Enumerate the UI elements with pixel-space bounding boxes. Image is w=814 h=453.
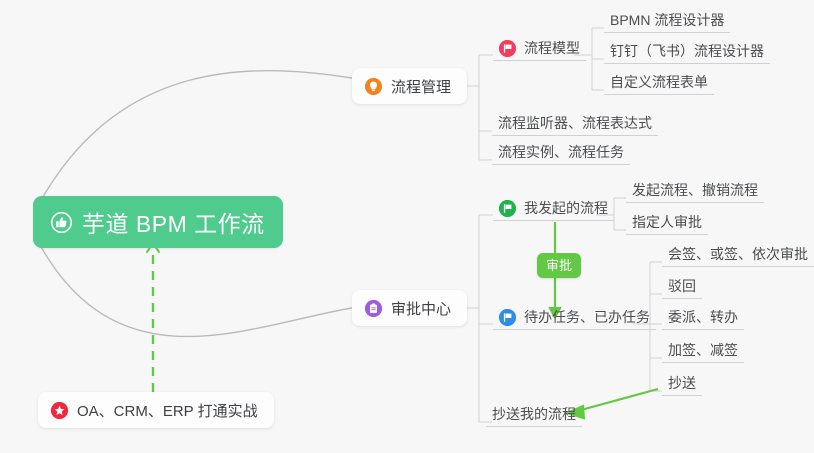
leaf-countersign-modes-label: 会签、或签、依次审批 (668, 246, 808, 263)
leaf-carbon-copy[interactable]: 抄送 (662, 375, 702, 396)
link-callout-to-root (147, 243, 159, 392)
leaf-designated-approver[interactable]: 指定人审批 (626, 214, 708, 235)
root-node[interactable]: 芋道 BPM 工作流 (33, 196, 283, 248)
leaf-cc-my-process[interactable]: 抄送我的流程 (486, 406, 582, 427)
leaf-process-instance-task-label: 流程实例、流程任务 (498, 144, 624, 161)
node-my-initiated-process[interactable]: 我发起的流程 (493, 200, 614, 221)
node-process-model[interactable]: 流程模型 (493, 40, 586, 61)
leaf-delegate-transfer[interactable]: 委派、转办 (662, 309, 744, 330)
leaf-dingtalk-feishu-designer[interactable]: 钉钉（飞书）流程设计器 (604, 43, 770, 64)
leaf-carbon-copy-label: 抄送 (668, 375, 696, 392)
thumbs-up-icon (51, 212, 72, 233)
leaf-custom-process-form-label: 自定义流程表单 (610, 74, 708, 91)
leaf-bpmn-designer-label: BPMN 流程设计器 (610, 12, 724, 29)
node-oa-crm-erp-integration[interactable]: OA、CRM、ERP 打通实战 (38, 392, 274, 428)
mindmap-canvas: 芋道 BPM 工作流 流程管理 流程模型 BPMN 流程设计器 钉钉（飞书）流程… (0, 0, 814, 453)
leaf-process-listener-expression-label: 流程监听器、流程表达式 (498, 115, 652, 132)
node-approval-center-label: 审批中心 (391, 298, 451, 319)
clipboard-icon (365, 300, 382, 317)
leaf-dingtalk-feishu-designer-label: 钉钉（飞书）流程设计器 (610, 43, 764, 60)
annotation-approval-label: 审批 (546, 258, 572, 273)
annotation-approval: 审批 (537, 253, 581, 278)
link-group-process-management (463, 55, 493, 160)
flag-icon (499, 40, 516, 57)
node-process-model-label: 流程模型 (524, 40, 580, 57)
flag-icon (499, 309, 516, 326)
leaf-add-remove-sign[interactable]: 加签、减签 (662, 342, 744, 363)
leaf-designated-approver-label: 指定人审批 (632, 214, 702, 231)
lightbulb-icon (365, 78, 382, 95)
leaf-reject-label: 驳回 (668, 278, 696, 295)
node-todo-done-tasks[interactable]: 待办任务、已办任务 (493, 309, 656, 330)
leaf-countersign-modes[interactable]: 会签、或签、依次审批 (662, 246, 814, 267)
leaf-reject[interactable]: 驳回 (662, 278, 702, 299)
node-my-initiated-process-label: 我发起的流程 (524, 200, 608, 217)
node-approval-center[interactable]: 审批中心 (352, 290, 467, 326)
leaf-delegate-transfer-label: 委派、转办 (668, 309, 738, 326)
leaf-process-listener-expression[interactable]: 流程监听器、流程表达式 (492, 115, 658, 136)
node-process-management-label: 流程管理 (391, 76, 451, 97)
leaf-custom-process-form[interactable]: 自定义流程表单 (604, 74, 714, 95)
link-root-to-approval-center (40, 245, 352, 337)
star-icon (51, 402, 68, 419)
leaf-process-instance-task[interactable]: 流程实例、流程任务 (492, 144, 630, 165)
flag-icon (499, 200, 516, 217)
leaf-add-remove-sign-label: 加签、减签 (668, 342, 738, 359)
link-root-to-process-management (40, 71, 352, 202)
node-process-management[interactable]: 流程管理 (352, 68, 467, 104)
node-oa-crm-erp-integration-label: OA、CRM、ERP 打通实战 (77, 400, 258, 421)
node-todo-done-tasks-label: 待办任务、已办任务 (524, 309, 650, 326)
root-node-label: 芋道 BPM 工作流 (82, 205, 265, 239)
leaf-cc-my-process-label: 抄送我的流程 (492, 406, 576, 423)
leaf-initiate-cancel-process[interactable]: 发起流程、撤销流程 (626, 182, 764, 203)
leaf-initiate-cancel-process-label: 发起流程、撤销流程 (632, 182, 758, 199)
link-group-approval-center (463, 215, 493, 422)
leaf-bpmn-designer[interactable]: BPMN 流程设计器 (604, 12, 730, 33)
